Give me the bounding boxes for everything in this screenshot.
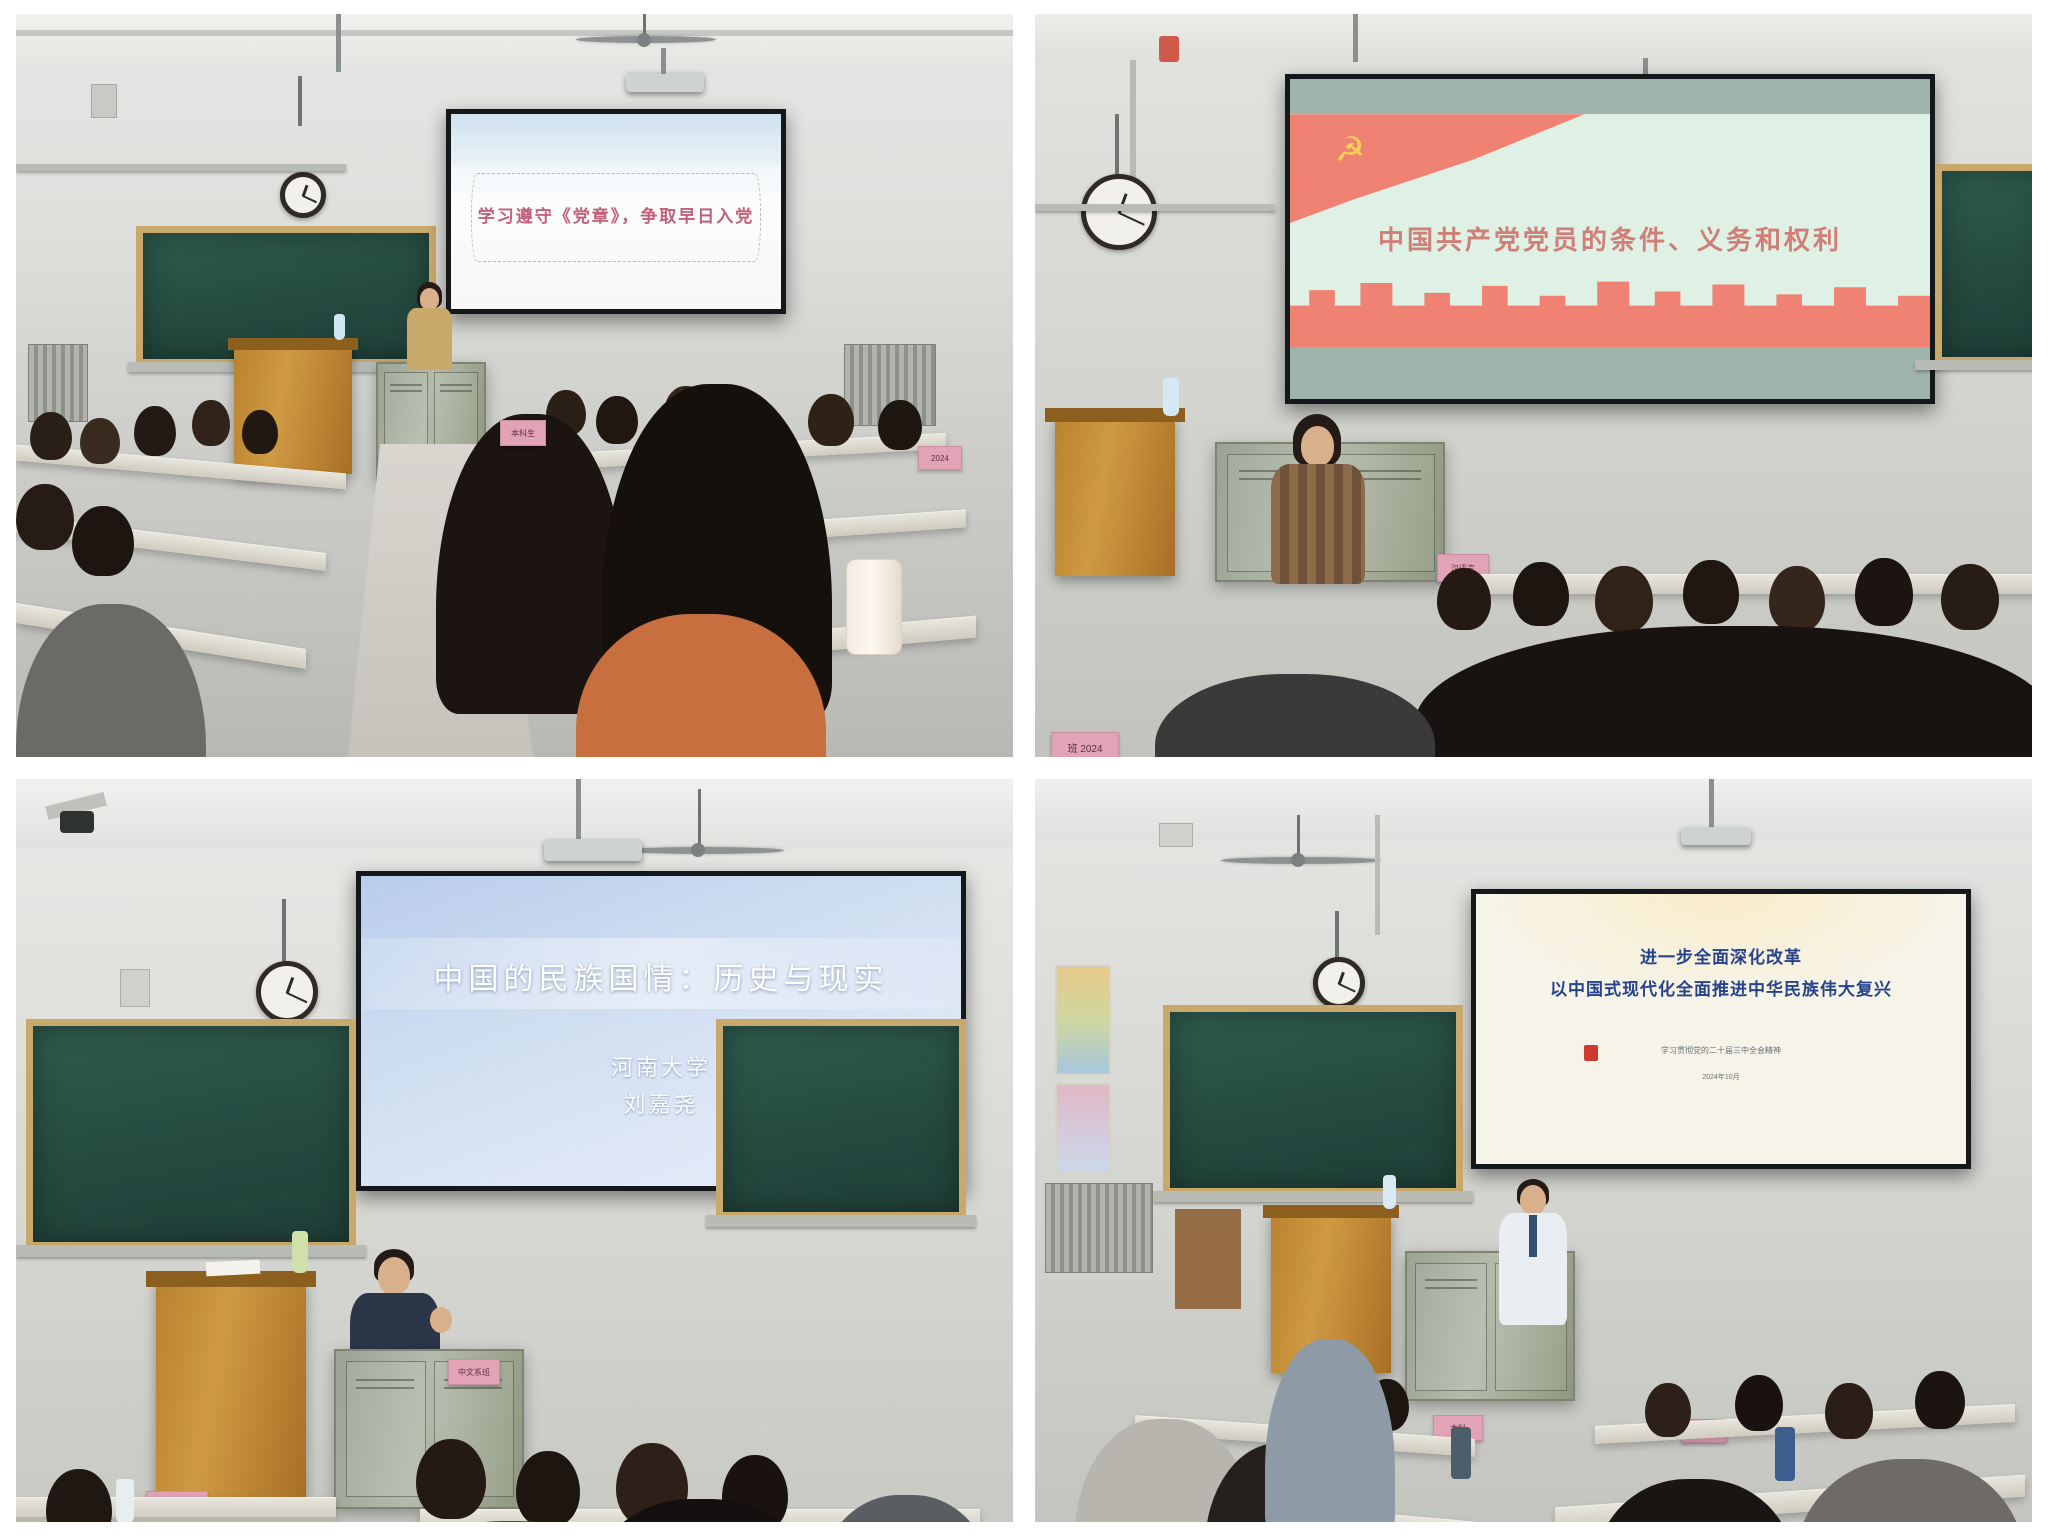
wall-speaker-left bbox=[91, 84, 117, 118]
projector-arm bbox=[1709, 779, 1714, 827]
student-head bbox=[46, 1469, 112, 1522]
projection-screen: ☭ 中国共产党党员的条件、义务和权利 bbox=[1290, 79, 1930, 399]
slide-4-meta-1: 学习贯彻党的二十届三中全会精神 bbox=[1476, 1045, 1966, 1056]
speaker-body bbox=[407, 308, 452, 370]
thermos-bottle bbox=[846, 559, 902, 655]
cabinet-vent bbox=[390, 390, 422, 392]
projection-screen: 进一步全面深化改革 以中国式现代化全面推进中华民族伟大复兴 学习贯彻党的二十届三… bbox=[1476, 894, 1966, 1164]
panel-bottom-left[interactable]: 中国的民族国情：历史与现实 河南大学 刘嘉尧 bbox=[16, 779, 1013, 1522]
lecturer-hand bbox=[430, 1307, 452, 1333]
cabinet-vent bbox=[440, 390, 472, 392]
desk-placard: 班 2024 bbox=[1051, 732, 1119, 757]
student-head bbox=[30, 412, 72, 460]
slide-4-line-2: 以中国式现代化全面推进中华民族伟大复兴 bbox=[1476, 975, 1966, 1000]
wall-box bbox=[120, 969, 150, 1007]
wall-poster bbox=[1055, 1083, 1111, 1173]
speaker bbox=[401, 282, 457, 372]
student-head bbox=[1683, 560, 1739, 624]
podium-top bbox=[1263, 1205, 1399, 1218]
blackboard bbox=[1935, 164, 2032, 364]
cabinet-door-left bbox=[1415, 1263, 1487, 1391]
speaker-body bbox=[1271, 464, 1365, 584]
student-head bbox=[16, 484, 74, 550]
clock-stem bbox=[1335, 911, 1339, 959]
student-head bbox=[1645, 1383, 1691, 1437]
wall-clock bbox=[256, 961, 318, 1023]
lecturer-head bbox=[1520, 1185, 1546, 1215]
papers-on-podium bbox=[206, 1260, 261, 1277]
speaker-head bbox=[1301, 426, 1334, 466]
projector-arm bbox=[576, 779, 581, 839]
emergency-light bbox=[1159, 36, 1179, 62]
student-head bbox=[1915, 1371, 1965, 1429]
water-bottle bbox=[1163, 378, 1179, 416]
clock-stem bbox=[1115, 114, 1119, 176]
projector bbox=[626, 72, 704, 92]
ceiling-slab bbox=[1035, 14, 2032, 60]
wall-poster bbox=[1055, 965, 1111, 1075]
blackboard bbox=[1163, 1005, 1463, 1195]
desk-placard: 本科生 bbox=[500, 420, 546, 446]
panel-bottom-right[interactable]: 进一步全面深化改革 以中国式现代化全面推进中华民族伟大复兴 学习贯彻党的二十届三… bbox=[1035, 779, 2032, 1522]
desk-placard: 2024 bbox=[918, 446, 962, 470]
desk-placard: 中文系班 bbox=[448, 1359, 500, 1385]
radiator bbox=[1045, 1183, 1153, 1273]
wall-rail bbox=[1035, 204, 1275, 211]
cabinet-vent bbox=[440, 384, 472, 386]
cabinet-vent bbox=[1425, 1279, 1477, 1281]
student-head bbox=[1855, 558, 1913, 626]
lecturer-head bbox=[378, 1257, 410, 1295]
blackboard bbox=[26, 1019, 356, 1249]
student-foreground bbox=[1795, 1459, 2025, 1522]
slide-1-title: 学习遵守《党章》，争取早日入党 bbox=[451, 202, 781, 227]
cabinet-vent bbox=[444, 1387, 502, 1389]
slide-4-meta-2: 2024年10月 bbox=[1476, 1072, 1966, 1082]
student-head bbox=[416, 1439, 486, 1519]
slide-2-title: 中国共产党党员的条件、义务和权利 bbox=[1290, 220, 1930, 257]
student-head bbox=[1437, 568, 1491, 630]
podium bbox=[1055, 416, 1175, 576]
ceiling-fan-hub bbox=[1291, 853, 1305, 867]
student-head bbox=[80, 418, 120, 464]
slide-2-skyline bbox=[1290, 277, 1930, 347]
water-bottle bbox=[334, 314, 345, 340]
student-foreground bbox=[1155, 674, 1435, 757]
student-foreground bbox=[1415, 626, 2032, 757]
slide-4-line-1: 进一步全面深化改革 bbox=[1476, 943, 1966, 968]
lecturer-tie bbox=[1529, 1215, 1537, 1257]
student-head bbox=[1735, 1375, 1783, 1431]
ceiling-beam bbox=[16, 30, 1013, 36]
projector bbox=[544, 839, 642, 861]
projector-arm bbox=[1353, 14, 1358, 62]
student-head bbox=[1513, 562, 1569, 626]
slide-2-top-band bbox=[1290, 79, 1930, 114]
water-bottle bbox=[1775, 1427, 1795, 1481]
blackboard-right bbox=[716, 1019, 966, 1219]
projection-screen: 学习遵守《党章》，争取早日入党 bbox=[451, 114, 781, 309]
student-head bbox=[134, 406, 176, 456]
student-head bbox=[1769, 566, 1825, 632]
projection-screen-frame[interactable]: 进一步全面深化改革 以中国式现代化全面推进中华民族伟大复兴 学习贯彻党的二十届三… bbox=[1471, 889, 1971, 1169]
clock-stem bbox=[298, 76, 302, 126]
podium bbox=[156, 1279, 306, 1499]
student-head bbox=[192, 400, 230, 446]
slide-3-title: 中国的民族国情：历史与现实 bbox=[361, 954, 961, 998]
photo-collage: 学习遵守《党章》，争取早日入党 bbox=[0, 0, 2048, 1536]
student-head bbox=[596, 396, 638, 444]
projector-arm bbox=[336, 14, 341, 72]
panel-top-left[interactable]: 学习遵守《党章》，争取早日入党 bbox=[16, 14, 1013, 757]
radiator-left bbox=[28, 344, 88, 422]
conduit-pipe bbox=[1375, 815, 1380, 935]
projector-mount bbox=[661, 48, 666, 74]
fan-rod bbox=[698, 789, 701, 849]
ceiling-slab bbox=[16, 14, 1013, 74]
wall-clock bbox=[1081, 174, 1157, 250]
speaker-head bbox=[420, 288, 439, 310]
podium bbox=[234, 344, 352, 474]
wall-camera bbox=[60, 811, 94, 833]
wooden-chair bbox=[1175, 1209, 1241, 1309]
student-head bbox=[72, 506, 134, 576]
water-bottle bbox=[1383, 1175, 1396, 1209]
projection-screen-frame[interactable]: 学习遵守《党章》，争取早日入党 bbox=[446, 109, 786, 314]
water-bottle bbox=[116, 1479, 134, 1522]
slide-1-wave bbox=[451, 114, 781, 165]
slide-2-bottom-band bbox=[1290, 348, 1930, 399]
student-head bbox=[1595, 566, 1653, 632]
water-bottle bbox=[1451, 1427, 1471, 1479]
panel-top-right[interactable]: ☭ 中国共产党党员的条件、义务和权利 bbox=[1035, 14, 2032, 757]
student-head bbox=[242, 410, 278, 454]
chalk-tray bbox=[1915, 360, 2032, 370]
chalk-tray bbox=[16, 1245, 366, 1257]
slide-2: ☭ 中国共产党党员的条件、义务和权利 bbox=[1290, 79, 1930, 399]
clock-stem bbox=[282, 899, 286, 965]
cabinet-vent bbox=[356, 1387, 414, 1389]
wall-rail bbox=[16, 164, 346, 171]
student-head bbox=[808, 394, 854, 446]
ceiling-slab bbox=[16, 779, 1013, 849]
student-head bbox=[516, 1451, 580, 1522]
student-head bbox=[1941, 564, 1999, 630]
projection-screen-frame[interactable]: ☭ 中国共产党党员的条件、义务和权利 bbox=[1285, 74, 1935, 404]
chalk-tray-right bbox=[706, 1215, 976, 1227]
water-bottle bbox=[292, 1231, 308, 1273]
wall-box bbox=[1159, 823, 1193, 847]
ceiling-fan-hub bbox=[691, 843, 705, 857]
ceiling-fan-hub bbox=[637, 33, 651, 47]
cabinet-vent bbox=[390, 384, 422, 386]
lecturer bbox=[1487, 1179, 1577, 1329]
projector bbox=[1681, 827, 1751, 845]
chalk-tray bbox=[1153, 1191, 1473, 1202]
cabinet-vent bbox=[356, 1379, 414, 1381]
hammer-sickle-icon: ☭ bbox=[1335, 133, 1365, 167]
speaker bbox=[1263, 414, 1373, 584]
cabinet-door-left bbox=[346, 1361, 426, 1497]
student-head bbox=[878, 400, 922, 450]
slide-1: 学习遵守《党章》，争取早日入党 bbox=[451, 114, 781, 309]
cabinet-vent bbox=[1425, 1287, 1477, 1289]
slide-4: 进一步全面深化改革 以中国式现代化全面推进中华民族伟大复兴 学习贯彻党的二十届三… bbox=[1476, 894, 1966, 1164]
wall-clock bbox=[280, 172, 326, 218]
student-head bbox=[1825, 1383, 1873, 1439]
wall-clock bbox=[1313, 957, 1365, 1009]
